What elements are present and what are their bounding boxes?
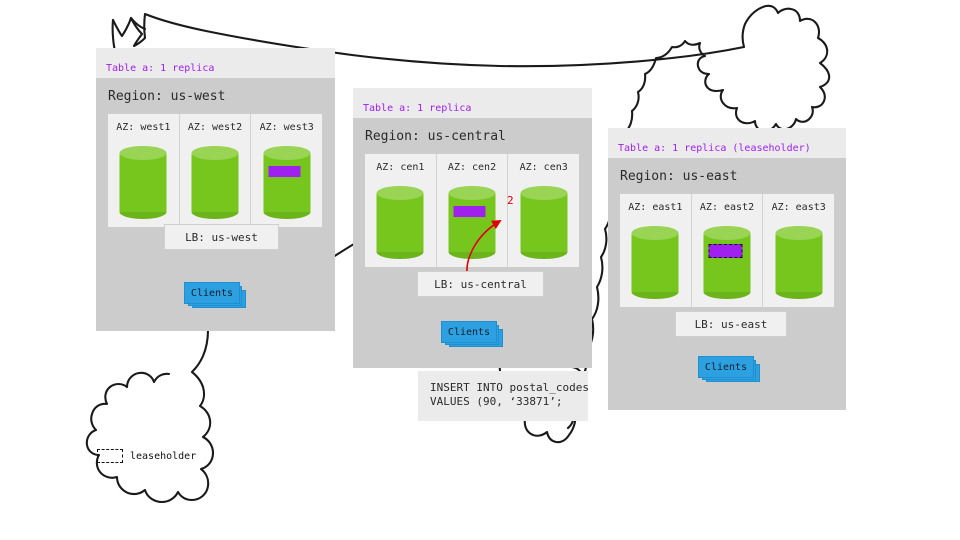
diagram-canvas: Table a: 1 replica Region: us-west AZ: w…	[0, 0, 960, 540]
cylinder-top	[263, 146, 310, 160]
cylinder-body	[120, 153, 167, 212]
cylinder-top	[520, 186, 567, 200]
load-balancer-us-west[interactable]: LB: us-west	[164, 224, 279, 250]
az-container-us-central: AZ: cen1 AZ: cen2 AZ: cen3	[365, 154, 579, 267]
region-title-us-east: Region: us-east	[620, 169, 737, 184]
az-container-us-west: AZ: west1 AZ: west2 AZ: west3	[108, 114, 322, 227]
az-label: AZ: cen1	[365, 162, 436, 174]
leaseholder-marker	[709, 244, 743, 258]
node-cylinder[interactable]	[449, 186, 496, 259]
region-title-us-central: Region: us-central	[365, 129, 506, 144]
cylinder-body	[263, 153, 310, 212]
panel-header-us-central: Table a: 1 replica	[353, 88, 592, 118]
az-label: AZ: west1	[108, 122, 179, 134]
region-panel-us-east: Table a: 1 replica (leaseholder) Region:…	[608, 128, 846, 410]
az-container-us-east: AZ: east1 AZ: east2 AZ: east3	[620, 194, 834, 307]
cylinder-top	[449, 186, 496, 200]
region-title-us-west: Region: us-west	[108, 89, 225, 104]
clients-button[interactable]: Clients	[698, 356, 754, 378]
legend: leaseholder	[97, 449, 196, 463]
az-west3[interactable]: AZ: west3	[250, 114, 322, 227]
az-label: AZ: east1	[620, 202, 691, 214]
node-cylinder[interactable]	[120, 146, 167, 219]
dashed-rect-swatch-icon	[97, 449, 123, 463]
cylinder-top	[377, 186, 424, 200]
az-cen3[interactable]: AZ: cen3	[507, 154, 579, 267]
az-cen1[interactable]: AZ: cen1	[365, 154, 436, 267]
panel-header-us-west: Table a: 1 replica	[96, 48, 335, 78]
node-cylinder[interactable]	[192, 146, 239, 219]
az-label: AZ: east3	[763, 202, 834, 214]
cylinder-body	[192, 153, 239, 212]
cylinder-body	[449, 193, 496, 252]
az-label: AZ: west3	[251, 122, 322, 134]
az-label: AZ: cen3	[508, 162, 579, 174]
leaseholder-marker	[268, 166, 300, 177]
node-cylinder[interactable]	[263, 146, 310, 219]
replica-header-label: Table a: 1 replica (leaseholder)	[618, 143, 811, 154]
replica-header-label: Table a: 1 replica	[106, 63, 214, 74]
cylinder-top	[120, 146, 167, 160]
clients-us-west[interactable]: Clients	[184, 282, 246, 308]
cylinder-top	[775, 226, 822, 240]
replica-header-label: Table a: 1 replica	[363, 103, 471, 114]
cylinder-top	[192, 146, 239, 160]
cylinder-body	[775, 233, 822, 292]
region-panel-us-west: Table a: 1 replica Region: us-west AZ: w…	[96, 48, 335, 331]
node-cylinder[interactable]	[775, 226, 822, 299]
cylinder-top	[632, 226, 679, 240]
node-cylinder[interactable]	[377, 186, 424, 259]
az-east3[interactable]: AZ: east3	[762, 194, 834, 307]
leaseholder-marker	[454, 206, 486, 217]
az-label: AZ: cen2	[437, 162, 508, 174]
az-east2[interactable]: AZ: east2	[691, 194, 763, 307]
clients-us-central[interactable]: Clients	[441, 321, 503, 347]
cylinder-body	[520, 193, 567, 252]
load-balancer-us-east[interactable]: LB: us-east	[675, 311, 787, 337]
az-label: AZ: west2	[180, 122, 251, 134]
clients-button[interactable]: Clients	[184, 282, 240, 304]
arrow-step-label: 2	[507, 194, 514, 207]
cylinder-body	[632, 233, 679, 292]
cylinder-body	[377, 193, 424, 252]
cylinder-top	[704, 226, 751, 240]
panel-header-us-east: Table a: 1 replica (leaseholder)	[608, 128, 846, 158]
node-cylinder[interactable]	[632, 226, 679, 299]
node-cylinder[interactable]	[520, 186, 567, 259]
node-cylinder[interactable]	[704, 226, 751, 299]
load-balancer-us-central[interactable]: LB: us-central	[417, 271, 544, 297]
az-label: AZ: east2	[692, 202, 763, 214]
sql-statement-box: INSERT INTO postal_codes VALUES (90, ‘33…	[418, 371, 588, 421]
az-east1[interactable]: AZ: east1	[620, 194, 691, 307]
az-west1[interactable]: AZ: west1	[108, 114, 179, 227]
az-cen2[interactable]: AZ: cen2	[436, 154, 508, 267]
clients-button[interactable]: Clients	[441, 321, 497, 343]
az-west2[interactable]: AZ: west2	[179, 114, 251, 227]
clients-us-east[interactable]: Clients	[698, 356, 760, 382]
cylinder-body	[704, 233, 751, 292]
region-panel-us-central: Table a: 1 replica Region: us-central AZ…	[353, 88, 592, 368]
legend-label: leaseholder	[130, 451, 196, 462]
